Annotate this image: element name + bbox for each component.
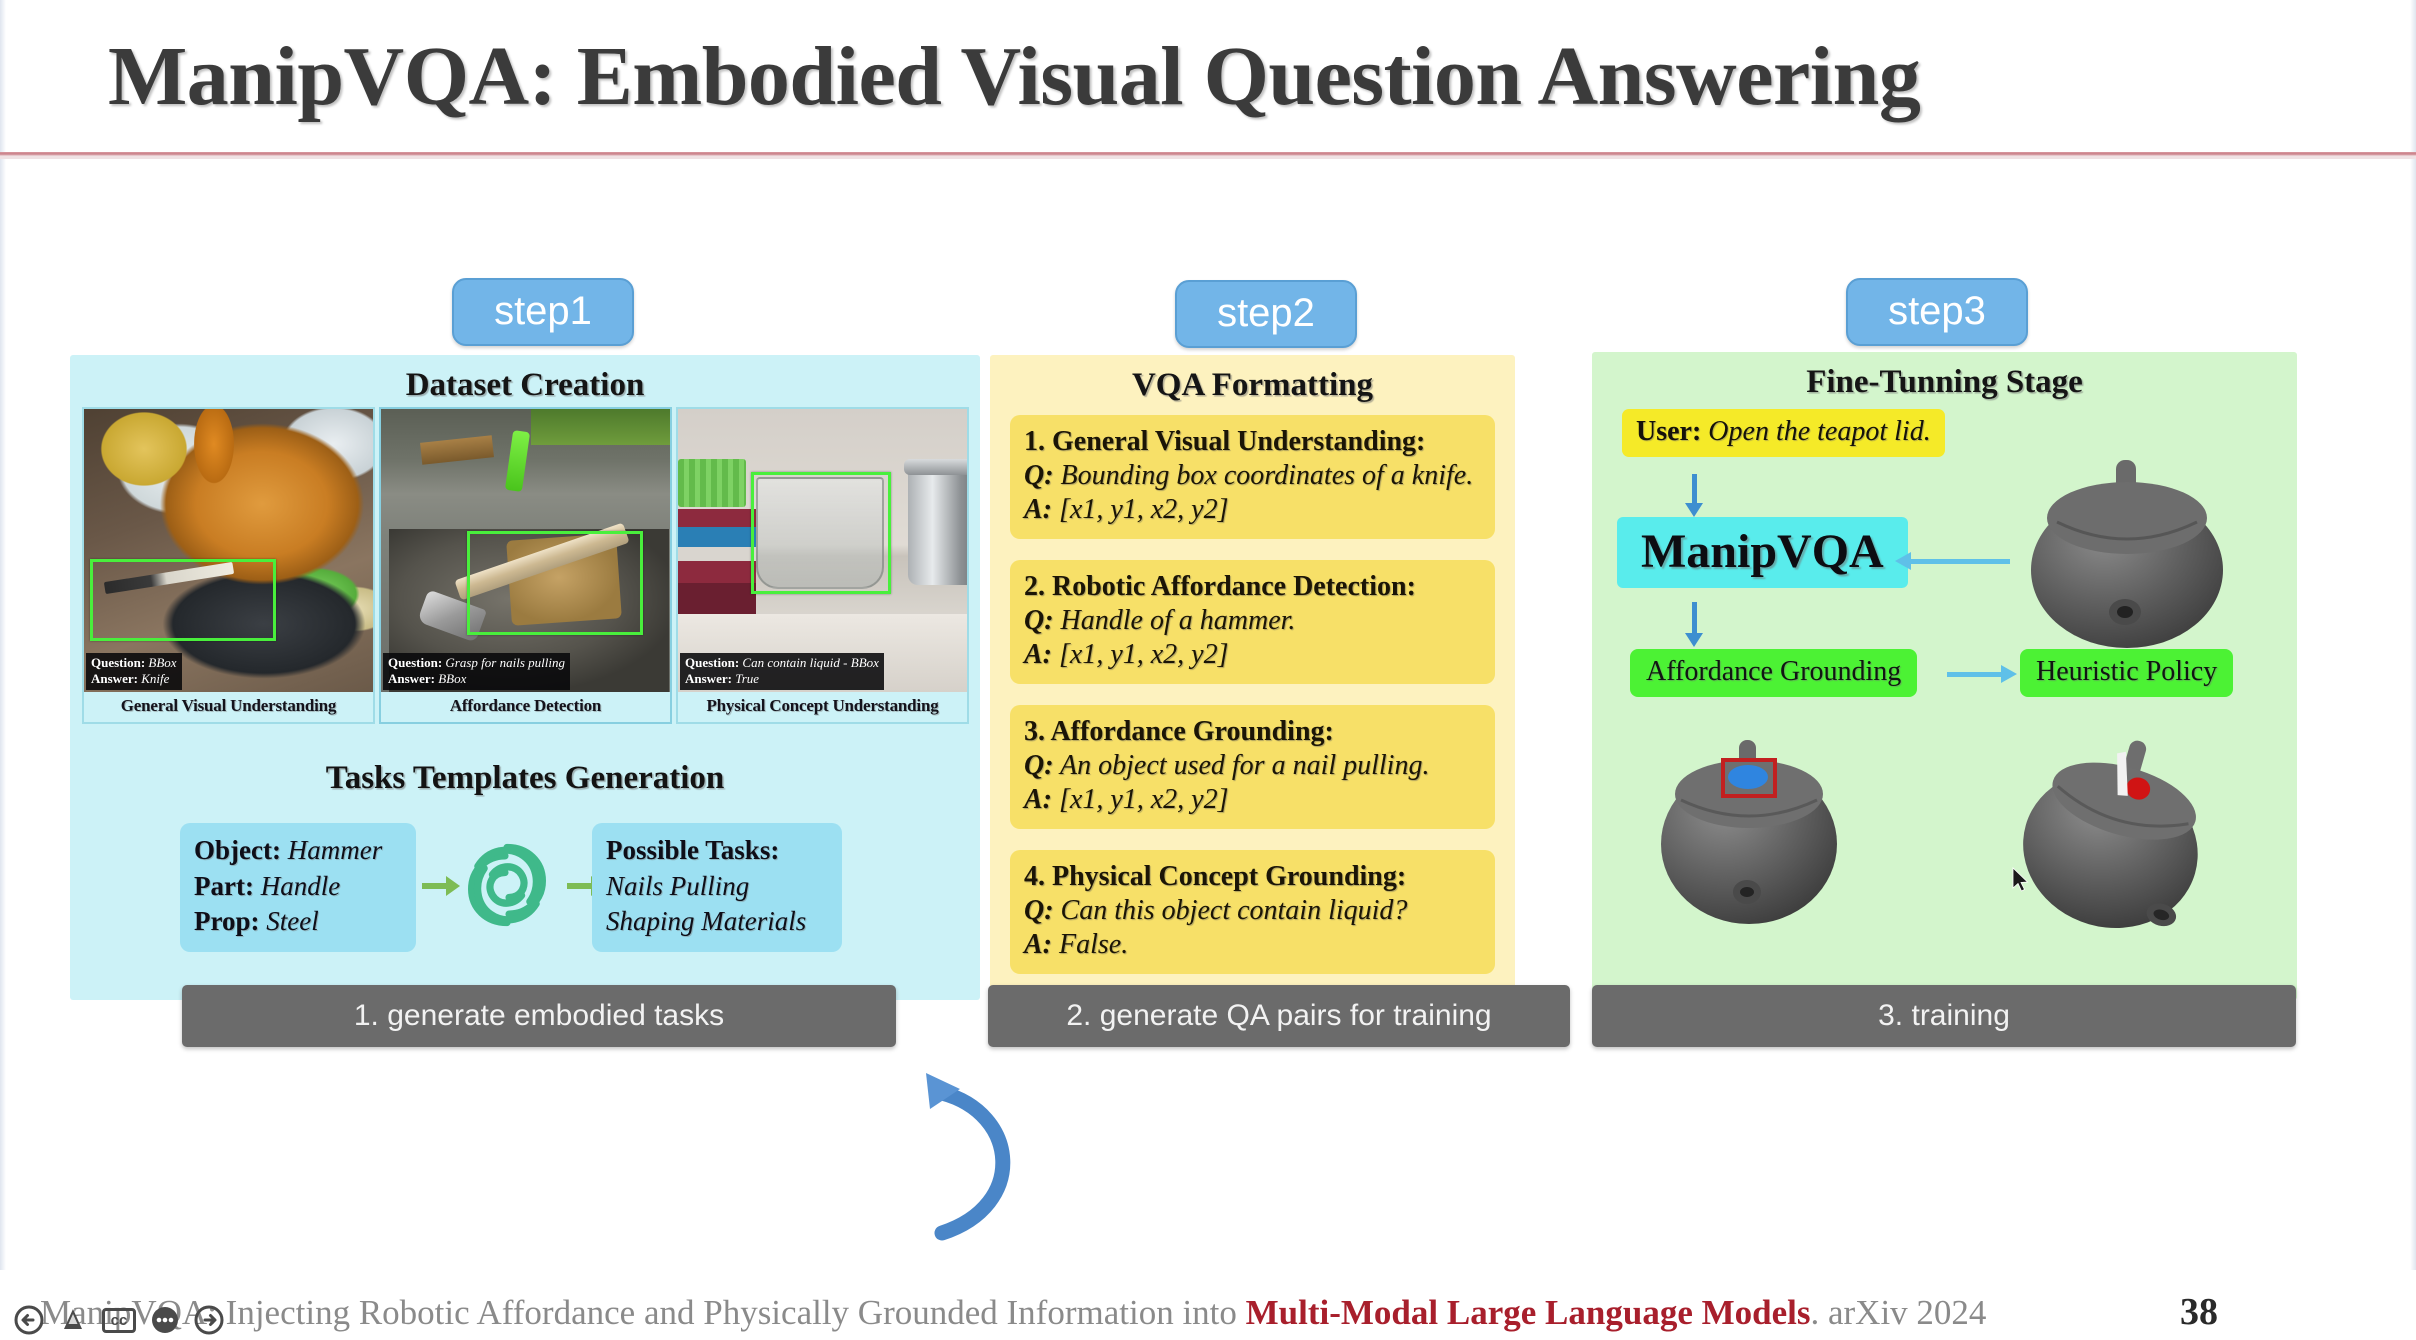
thumbnail-image-food: Question: BBox Answer: Knife <box>84 409 373 692</box>
thumbnail-row: Question: BBox Answer: Knife General Vis… <box>82 407 969 724</box>
panel-dataset-creation: Dataset Creation Question: BBox Answer: … <box>70 355 980 1000</box>
closed-captions-icon[interactable]: cc <box>102 1308 136 1333</box>
user-label: User: <box>1636 416 1701 447</box>
step-pill-2: step2 <box>1175 280 1357 348</box>
answer-label-1: Answer: <box>91 671 138 686</box>
thumbnail-caption-2: Affordance Detection <box>381 692 670 722</box>
qa-card-3-heading: 3. Affordance Grounding: <box>1024 715 1481 749</box>
question-label-2: Question: <box>388 655 442 670</box>
qa-card-1-heading: 1. General Visual Understanding: <box>1024 425 1481 459</box>
answer-value-3: True <box>735 671 759 686</box>
panel3-heading: Fine-Tunning Stage <box>1592 352 2297 401</box>
tasks-templates-heading: Tasks Templates Generation <box>70 760 980 797</box>
book-stack <box>678 509 756 614</box>
thumbnail-qa-overlay-2: Question: Grasp for nails pulling Answer… <box>383 653 570 691</box>
qa-card-3-q-text: An object used for a nail pulling. <box>1060 750 1429 781</box>
question-value-3: Can contain liquid - BBox <box>742 655 878 670</box>
thumbnail-affordance-detection: Question: Grasp for nails pulling Answer… <box>379 407 672 724</box>
qa-card-4-q-tag: Q: <box>1024 895 1054 926</box>
object-attributes-box: Object: Hammer Part: Handle Prop: Steel <box>180 823 416 952</box>
qa-card-3: 3. Affordance Grounding: Q: An object us… <box>1010 705 1495 829</box>
thumbnail-caption-1: General Visual Understanding <box>84 692 373 722</box>
arrow-affordance-to-policy <box>1947 672 2002 677</box>
previous-slide-icon[interactable] <box>14 1305 44 1335</box>
object-value: Hammer <box>288 835 383 865</box>
qa-card-1-q-text: Bounding box coordinates of a knife. <box>1061 460 1474 491</box>
prop-value: Steel <box>266 906 318 936</box>
mouse-cursor-icon <box>2012 867 2030 898</box>
steel-pot <box>908 467 967 585</box>
answer-value-1: Knife <box>141 671 169 686</box>
player-controls: cc <box>14 1305 224 1335</box>
thumbnail-caption-3: Physical Concept Understanding <box>678 692 967 722</box>
qa-card-3-a-text: [x1, y1, x2, y2] <box>1059 784 1229 815</box>
qa-card-4-a-tag: A: <box>1024 929 1052 960</box>
part-key: Part: <box>194 871 254 901</box>
page-number: 38 <box>2180 1290 2218 1334</box>
thumbnail-physical-concept-understanding: Question: Can contain liquid - BBox Answ… <box>676 407 969 724</box>
green-arrow-left <box>422 883 448 889</box>
part-value: Handle <box>261 871 340 901</box>
teapot-render-affordance <box>1647 732 1857 937</box>
thumbnail-qa-overlay-3: Question: Can contain liquid - BBox Answ… <box>680 653 884 691</box>
answer-value-2: BBox <box>438 671 466 686</box>
step2-summary-bar: 2. generate QA pairs for training <box>988 985 1570 1047</box>
next-slide-icon[interactable] <box>194 1305 224 1335</box>
qa-card-2: 2. Robotic Affordance Detection: Q: Hand… <box>1010 560 1495 684</box>
panel-vqa-formatting: VQA Formatting 1. General Visual Underst… <box>990 355 1515 1000</box>
qa-card-1-q-tag: Q: <box>1024 460 1054 491</box>
qa-card-1-a-text: [x1, y1, x2, y2] <box>1059 494 1229 525</box>
food-photo-art <box>84 409 373 692</box>
green-basket <box>678 459 746 507</box>
more-options-icon[interactable] <box>150 1305 180 1335</box>
arrow-user-to-model <box>1692 474 1697 504</box>
possible-task-1: Nails Pulling <box>606 869 828 905</box>
bounding-box-cup <box>751 472 891 594</box>
grass-patch <box>531 409 670 445</box>
title-divider-shadow <box>0 156 2416 159</box>
feedback-loop-arrow-icon <box>908 1055 1038 1255</box>
question-label-3: Question: <box>685 655 739 670</box>
page-title: ManipVQA: Embodied Visual Question Answe… <box>108 28 1920 125</box>
qa-card-3-a-tag: A: <box>1024 784 1052 815</box>
thumbnail-qa-overlay-1: Question: BBox Answer: Knife <box>86 653 182 691</box>
possible-tasks-title: Possible Tasks: <box>606 833 828 869</box>
manipvqa-model-box: ManipVQA <box>1617 517 1908 588</box>
step1-summary-bar: 1. generate embodied tasks <box>182 985 896 1047</box>
footer-part2: . arXiv 2024 <box>1810 1293 1986 1332</box>
teapot-render-input <box>2012 452 2242 657</box>
step-pill-1: step1 <box>452 278 634 346</box>
green-rod <box>505 430 530 492</box>
teapot-render-executed <box>2004 734 2224 939</box>
user-prompt-text: Open the teapot lid. <box>1708 416 1930 447</box>
answer-label-2: Answer: <box>388 671 435 686</box>
panel-fine-tunning-stage: Fine-Tunning Stage User: Open the teapot… <box>1592 352 2297 1000</box>
steel-pot-lid <box>904 459 967 475</box>
qa-card-4: 4. Physical Concept Grounding: Q: Can th… <box>1010 850 1495 974</box>
qa-card-1-a-tag: A: <box>1024 494 1052 525</box>
qa-card-2-heading: 2. Robotic Affordance Detection: <box>1024 570 1481 604</box>
panel1-heading: Dataset Creation <box>70 355 980 404</box>
qa-card-4-a-text: False. <box>1059 929 1128 960</box>
panel2-heading: VQA Formatting <box>990 355 1515 404</box>
slide-canvas: ManipVQA: Embodied Visual Question Answe… <box>0 0 2416 1340</box>
slide-left-edge <box>0 0 6 1270</box>
green-arrow-right <box>567 883 593 889</box>
footer-citation: ManipVQA: Injecting Robotic Affordance a… <box>40 1293 1986 1333</box>
bounding-box-knife <box>90 559 276 641</box>
step-pill-3: step3 <box>1846 278 2028 346</box>
arrow-model-to-affordance <box>1692 602 1697 634</box>
cc-label: cc <box>111 1313 128 1328</box>
question-value-2: Grasp for nails pulling <box>445 655 565 670</box>
question-label-1: Question: <box>91 655 145 670</box>
bounding-box-hammer-handle <box>467 531 643 635</box>
qa-card-1: 1. General Visual Understanding: Q: Boun… <box>1010 415 1495 539</box>
answer-label-3: Answer: <box>685 671 732 686</box>
affordance-grounding-pill: Affordance Grounding <box>1630 649 1917 697</box>
step3-summary-bar: 3. training <box>1592 985 2296 1047</box>
qa-card-3-q-tag: Q: <box>1024 750 1054 781</box>
openai-logo-icon <box>455 833 559 937</box>
thumbnail-general-visual-understanding: Question: BBox Answer: Knife General Vis… <box>82 407 375 724</box>
slide-title-bar: ManipVQA: Embodied Visual Question Answe… <box>0 0 2416 152</box>
qa-card-4-heading: 4. Physical Concept Grounding: <box>1024 860 1481 894</box>
qa-card-2-a-tag: A: <box>1024 639 1052 670</box>
possible-task-2: Shaping Materials <box>606 904 828 940</box>
qa-card-4-q-text: Can this object contain liquid? <box>1061 895 1408 926</box>
qa-card-2-q-tag: Q: <box>1024 605 1054 636</box>
qa-card-2-a-text: [x1, y1, x2, y2] <box>1059 639 1229 670</box>
thumbnail-image-hammer: Question: Grasp for nails pulling Answer… <box>381 409 670 692</box>
object-key: Object: <box>194 835 281 865</box>
possible-tasks-box: Possible Tasks: Nails Pulling Shaping Ma… <box>592 823 842 952</box>
arrow-teapot-to-model <box>1910 559 2010 564</box>
wood-plank <box>420 435 494 464</box>
prop-key: Prop: <box>194 906 260 936</box>
qa-card-2-q-text: Handle of a hammer. <box>1061 605 1296 636</box>
question-value-1: BBox <box>148 655 176 670</box>
thumbnail-image-cup: Question: Can contain liquid - BBox Answ… <box>678 409 967 692</box>
user-prompt-box: User: Open the teapot lid. <box>1622 409 1945 457</box>
footer-highlight: Multi-Modal Large Language Models <box>1246 1293 1811 1332</box>
slide-right-edge <box>2410 0 2416 1270</box>
annotate-pen-icon[interactable] <box>58 1305 88 1335</box>
